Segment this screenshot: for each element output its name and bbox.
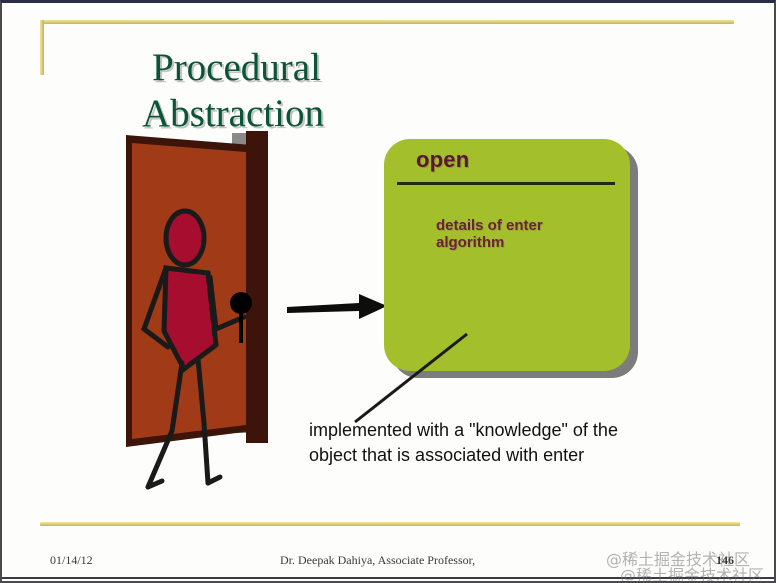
footer-page-number: 146 [716,553,734,568]
footer-rule [2,577,776,579]
method-box-divider [397,182,615,185]
decor-gold-bottom-rule [40,522,740,526]
method-body-line-1: details of enter [436,217,543,234]
method-body-text: details of enter algorithm [436,217,621,251]
arrow-shape [287,294,387,319]
caption-leader-line [347,328,487,428]
decor-gold-top-rule [40,20,734,24]
method-name-label: open [416,147,469,173]
watermark-line-2: @稀土掘金技术社区 [620,562,764,583]
caption-line-1: implemented with a "knowledge" of the [309,420,618,440]
slide-title-line-1: Procedural [142,45,442,91]
footer-date: 01/14/12 [50,553,93,568]
decor-gold-left-rule [40,20,44,75]
caption-line-2: object that is associated with enter [309,443,709,468]
footer-author: Dr. Deepak Dahiya, Associate Professor, [280,553,475,568]
caption-text: implemented with a "knowledge" of the ob… [309,418,709,468]
method-body-line-2: algorithm [436,234,504,251]
slide-title: Procedural Abstraction [142,45,442,137]
leader-line-shape [355,334,467,422]
flow-arrow [287,289,392,329]
presentation-slide: Procedural Abstraction [0,0,776,583]
figure-head [166,211,204,265]
door-illustration [120,131,310,491]
